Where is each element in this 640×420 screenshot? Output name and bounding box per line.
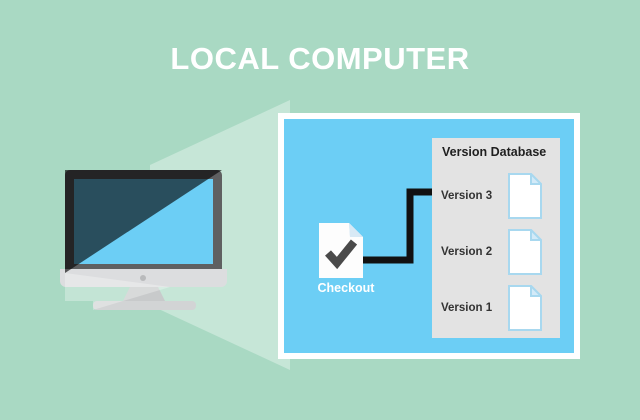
document-icon [508, 173, 542, 219]
document-icon [508, 229, 542, 275]
monitor-power-dot [140, 275, 146, 281]
version-database-title: Version Database [442, 145, 546, 159]
version-label: Version 2 [441, 246, 492, 258]
document-icon [508, 285, 542, 331]
local-repository-panel: Checkout Version Database Version 3 Vers… [278, 113, 580, 359]
monitor-screen [74, 179, 213, 264]
monitor-stand-base [93, 301, 196, 310]
document-check-icon [319, 223, 363, 278]
version-row[interactable]: Version 2 [432, 224, 560, 280]
version-label: Version 3 [441, 190, 492, 202]
diagram-canvas: LOCAL COMPUTER Checkout [0, 0, 640, 420]
version-row[interactable]: Version 1 [432, 280, 560, 336]
desktop-computer-monitor [60, 165, 230, 310]
version-database-panel: Version Database Version 3 Version 2 Ver… [432, 138, 560, 338]
checkout-item[interactable]: Checkout [311, 223, 381, 301]
version-row[interactable]: Version 3 [432, 168, 560, 224]
page-title: LOCAL COMPUTER [0, 42, 640, 76]
version-label: Version 1 [441, 302, 492, 314]
checkout-label: Checkout [309, 281, 383, 295]
